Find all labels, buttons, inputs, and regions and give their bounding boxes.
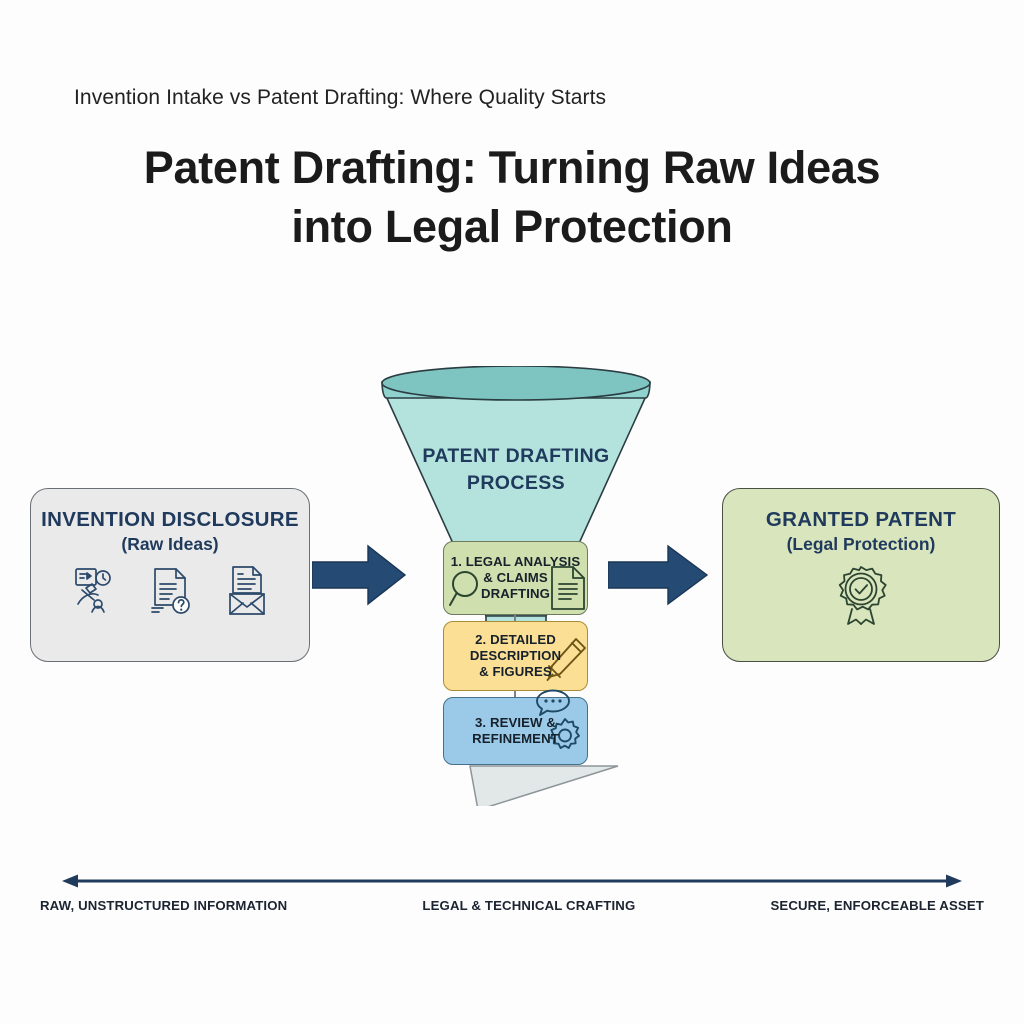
granted-patent-title-text: GRANTED PATENT	[723, 508, 999, 532]
invention-disclosure-title: INVENTION DISCLOSURE	[31, 508, 309, 532]
invention-disclosure-icon-row	[31, 564, 309, 616]
spectrum-axis-labels: RAW, UNSTRUCTURED INFORMATION LEGAL & TE…	[40, 898, 984, 913]
step-legal-analysis-card[interactable]: 1. LEGAL ANALYSIS & CLAIMS DRAFTING	[443, 541, 588, 615]
axis-label-right: SECURE, ENFORCEABLE ASSET	[770, 898, 984, 913]
step-2-line-2: DESCRIPTION	[470, 648, 561, 664]
step-2-line-1: 2. DETAILED	[470, 632, 561, 648]
step-review-refinement-card[interactable]: 3. REVIEW & REFINEMENT	[443, 697, 588, 765]
document-envelope-icon	[222, 564, 272, 616]
sketch-note-icon	[68, 564, 120, 616]
page-title-line-2: into Legal Protection	[72, 197, 952, 256]
step-1-line-3: DRAFTING	[451, 586, 580, 602]
step-3-line-2: REFINEMENT	[472, 731, 559, 747]
step-3-text: 3. REVIEW & REFINEMENT	[468, 715, 563, 747]
step-2-line-3: & FIGURES	[470, 664, 561, 680]
axis-label-left: RAW, UNSTRUCTURED INFORMATION	[40, 898, 287, 913]
granted-patent-panel: GRANTED PATENT (Legal Protection)	[722, 488, 1000, 662]
eyebrow-subtitle: Invention Intake vs Patent Drafting: Whe…	[74, 84, 954, 112]
invention-disclosure-panel: INVENTION DISCLOSURE (Raw Ideas)	[30, 488, 310, 662]
step-1-text: 1. LEGAL ANALYSIS & CLAIMS DRAFTING	[447, 554, 584, 602]
invention-disclosure-title-text: INVENTION DISCLOSURE	[31, 508, 309, 532]
step-1-line-2: & CLAIMS	[451, 570, 580, 586]
document-question-icon	[146, 564, 196, 616]
granted-patent-icon-row	[723, 564, 999, 626]
axis-label-center: LEGAL & TECHNICAL CRAFTING	[422, 898, 635, 913]
step-3-line-1: 3. REVIEW &	[472, 715, 559, 731]
certified-rosette-check-icon	[825, 564, 897, 626]
step-2-text: 2. DETAILED DESCRIPTION & FIGURES	[466, 632, 565, 680]
spectrum-axis	[62, 872, 962, 890]
page-title: Patent Drafting: Turning Raw Ideas into …	[72, 138, 952, 256]
granted-patent-title: GRANTED PATENT	[723, 508, 999, 532]
step-1-line-1: 1. LEGAL ANALYSIS	[451, 554, 580, 570]
step-detailed-description-card[interactable]: 2. DETAILED DESCRIPTION & FIGURES	[443, 621, 588, 691]
granted-patent-subtitle: (Legal Protection)	[723, 534, 999, 555]
page-title-line-1: Patent Drafting: Turning Raw Ideas	[72, 138, 952, 197]
arrow-funnel-to-patent	[608, 544, 708, 611]
invention-disclosure-subtitle: (Raw Ideas)	[31, 534, 309, 555]
infographic-canvas: Invention Intake vs Patent Drafting: Whe…	[0, 0, 1024, 1024]
